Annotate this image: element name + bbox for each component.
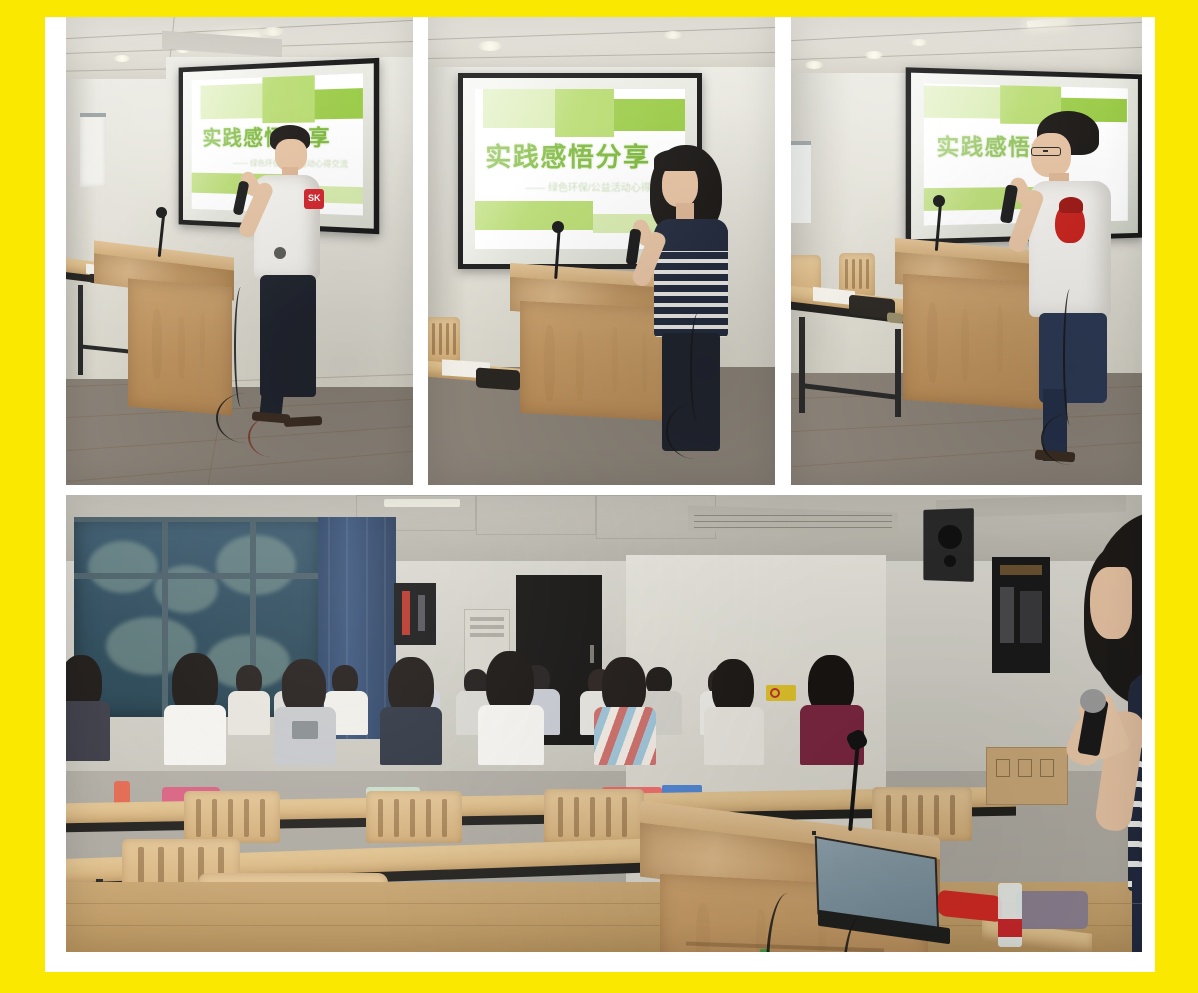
- photo-student-speaker-center: 实践感悟分享 —— 绿色环保/公益活动心得交流: [428, 17, 775, 485]
- photo-student-speaker-right: 实践感悟分享: [791, 17, 1142, 485]
- host-speaker: [1066, 511, 1142, 951]
- photo-collage: 实践感悟分享 —— 绿色环保/公益活动心得交流: [0, 0, 1198, 993]
- collage-caption: 实践感悟分享 presentation event photo collage: [0, 0, 1, 1]
- photo-student-speaker-left: 实践感悟分享 —— 绿色环保/公益活动心得交流: [66, 17, 413, 485]
- water-bottle: [998, 883, 1022, 947]
- microphone-icon: [933, 195, 945, 207]
- slide-title: 实践感悟分享: [485, 137, 650, 174]
- microphone-icon: [552, 221, 564, 233]
- photo-audience-and-host: Wide classroom shot: rows of seated stud…: [66, 495, 1142, 952]
- microphone-icon: [156, 207, 167, 218]
- audience-row: [66, 635, 1066, 765]
